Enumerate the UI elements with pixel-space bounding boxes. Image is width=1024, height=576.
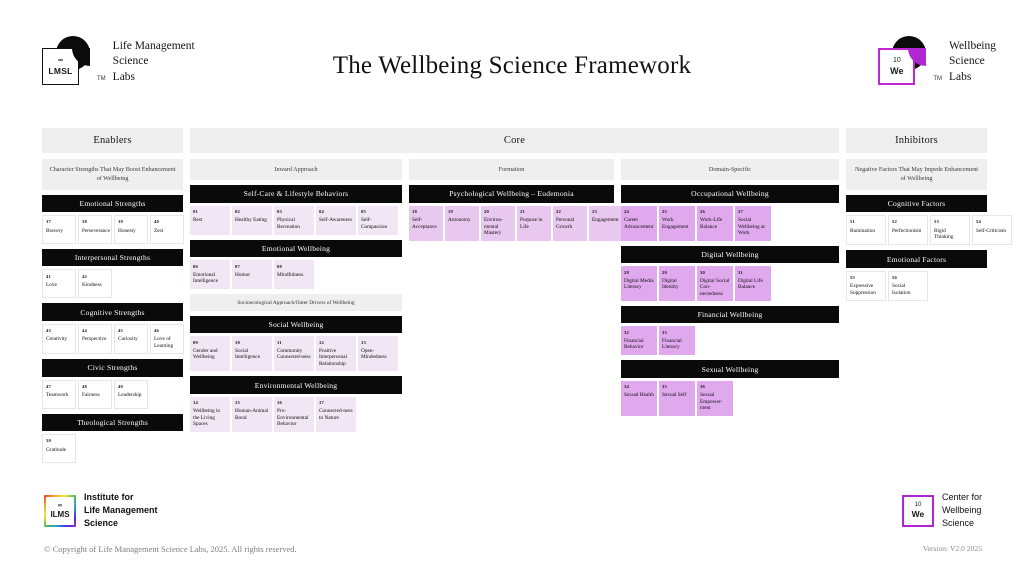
framework-cell[interactable]: 34Sexual Health: [621, 381, 657, 416]
framework-cell[interactable]: 45Curiosity: [114, 324, 148, 355]
cell-number: 47: [46, 384, 72, 390]
framework-cell[interactable]: 31Digital Life Balance: [735, 266, 771, 301]
cell-label: Social Wellbeing at Work: [738, 217, 768, 236]
framework-cell[interactable]: 53Rigid Thinking: [930, 215, 970, 246]
section-bar: Cognitive Strengths: [42, 303, 183, 320]
cell-label: Connected-ness to Nature: [319, 408, 353, 421]
cell-number: 36: [700, 384, 730, 390]
cell-number: 49: [118, 384, 144, 390]
column-enablers: Enablers Character Strengths That May Bo…: [42, 128, 183, 463]
cell-number: 13: [361, 340, 395, 346]
cws-number: 10: [915, 502, 922, 508]
cell-number: 35: [662, 384, 692, 390]
we-number: 10: [893, 57, 901, 64]
cws-line-3: Science: [942, 517, 982, 530]
cell-label: Positive Interpersonal Relationship: [319, 348, 353, 367]
framework-cell[interactable]: 26Work-Life Balance: [697, 206, 733, 241]
cell-number: 25: [662, 209, 692, 215]
framework-cell[interactable]: 21Purpose in Life: [517, 206, 551, 241]
cell-number: 41: [46, 274, 72, 280]
framework-cell[interactable]: 37Bravery: [42, 215, 76, 244]
cell-label: Purpose in Life: [520, 217, 548, 230]
framework-cell[interactable]: 25Work Engagement: [659, 206, 695, 241]
version-text: Version: V2.0 2025: [923, 544, 982, 553]
section-cells: 24Career Advancement25Work Engagement26W…: [621, 206, 839, 241]
section-cells: 18Self-Acceptance19Autonomy20Environ-men…: [409, 206, 614, 241]
framework-cell[interactable]: 44Perspective: [78, 324, 112, 355]
framework-cell[interactable]: 19Autonomy: [445, 206, 479, 241]
cell-label: Love of Learning: [154, 336, 180, 349]
formation-sections: Psychological Wellbeing – Eudemonia18Sel…: [409, 185, 614, 240]
framework-cell[interactable]: 39Honesty: [114, 215, 148, 244]
framework-cell[interactable]: 07Humor: [232, 260, 272, 289]
framework-cell[interactable]: 35Sexual Self: [659, 381, 695, 416]
cell-label: Love: [46, 282, 72, 288]
cell-number: 26: [700, 209, 730, 215]
wsl-line-2: Science: [949, 54, 996, 69]
framework-cell[interactable]: 20Environ-mental Mastery: [481, 206, 515, 241]
framework-cell[interactable]: 17Connected-ness to Nature: [316, 397, 356, 432]
framework-cell[interactable]: 33Financial Literacy: [659, 326, 695, 355]
cell-label: Autonomy: [448, 217, 476, 223]
cell-label: Zest: [154, 228, 180, 234]
cws-line-1: Center for: [942, 491, 982, 504]
framework-cell[interactable]: 10Social Intelligence: [232, 336, 272, 371]
framework-cell[interactable]: 03Physical Recreation: [274, 206, 314, 235]
cell-number: 10: [235, 340, 269, 346]
cell-number: 16: [277, 400, 311, 406]
ilms-line-1: Institute for: [84, 491, 158, 504]
framework-cell[interactable]: 42Kindness: [78, 269, 112, 298]
section-bar: Emotional Strengths: [42, 195, 183, 212]
framework-cell[interactable]: 40Zest: [150, 215, 184, 244]
cell-label: Sexual Self: [662, 392, 692, 398]
section-cells: 55Expressive Suppression56Social Isolati…: [846, 271, 987, 302]
section-bar: Financial Wellbeing: [621, 306, 839, 323]
cell-label: Sexual Empower-ment: [700, 392, 730, 411]
cell-number: 56: [892, 275, 924, 281]
cell-label: Teamwork: [46, 392, 72, 398]
cell-label: Curiosity: [118, 336, 144, 342]
framework-cell[interactable]: 56Social Isolation: [888, 271, 928, 302]
cell-number: 55: [850, 275, 882, 281]
cell-number: 22: [556, 209, 584, 215]
cell-label: Financial Behavior: [624, 338, 654, 351]
framework-cell[interactable]: 24Career Advancement: [621, 206, 657, 241]
ilms-line-2: Life Management: [84, 504, 158, 517]
framework-cell[interactable]: 43Creativity: [42, 324, 76, 355]
infinity-glyph: ∞: [58, 503, 62, 509]
cell-number: 37: [46, 219, 72, 225]
cell-number: 40: [154, 219, 180, 225]
cell-number: 01: [193, 209, 227, 215]
inhibitors-sections: Cognitive Factors51Rumination52Perfectio…: [846, 195, 987, 302]
section-bar: Interpersonal Strengths: [42, 249, 183, 266]
cws-badge-icon: 10 We: [902, 495, 934, 527]
cell-label: Work Engagement: [662, 217, 692, 230]
section-bar: Self-Care & Lifestyle Behaviors: [190, 185, 402, 202]
cws-line-2: Wellbeing: [942, 504, 982, 517]
cell-number: 45: [118, 328, 144, 334]
cws-logo-text: Center for Wellbeing Science: [942, 491, 982, 530]
ilms-badge-icon: ∞ ILMS: [44, 495, 76, 527]
cell-number: 34: [624, 384, 654, 390]
section-cells: 37Bravery38Perseverance39Honesty40Zest: [42, 215, 183, 244]
inhibitors-subtitle: Negative Factors That May Impede Enhance…: [846, 159, 987, 190]
cell-label: Social Isolation: [892, 283, 924, 296]
cell-label: Self-Criticism: [976, 228, 1008, 234]
cell-number: 27: [738, 209, 768, 215]
framework-cell[interactable]: 51Rumination: [846, 215, 886, 246]
cell-label: Engagement: [592, 217, 620, 223]
cws-abbr: We: [912, 509, 925, 519]
cell-label: Kindness: [82, 282, 108, 288]
subcolumn-formation: Formation Psychological Wellbeing – Eude…: [409, 159, 614, 241]
framework-cell[interactable]: 18Self-Acceptance: [409, 206, 443, 241]
section-bar: Psychological Wellbeing – Eudemonia: [409, 185, 614, 202]
cell-label: Perseverance: [82, 228, 108, 234]
cell-number: 31: [738, 270, 768, 276]
formation-heading: Formation: [409, 159, 614, 180]
core-heading: Core: [190, 128, 839, 153]
section-bar: Emotional Factors: [846, 250, 987, 267]
section-cells: 14Wellbeing in the Living Spaces15Human-…: [190, 397, 402, 432]
domain-sections: Occupational Wellbeing24Career Advanceme…: [621, 185, 839, 415]
cell-number: 44: [82, 328, 108, 334]
ilms-logo-text: Institute for Life Management Science: [84, 491, 158, 530]
framework-cell[interactable]: 27Social Wellbeing at Work: [735, 206, 771, 241]
page-title: The Wellbeing Science Framework: [0, 52, 1024, 80]
enablers-heading: Enablers: [42, 128, 183, 153]
section-cells: 09Gender and Wellbeing10Social Intellige…: [190, 336, 402, 371]
framework-cell[interactable]: 02Healthy Eating: [232, 206, 272, 235]
cws-logo: 10 We Center for Wellbeing Science: [902, 491, 982, 530]
framework-cell[interactable]: 38Perseverance: [78, 215, 112, 244]
cell-number: 52: [892, 219, 924, 225]
section-cells: 32Financial Behavior33Financial Literacy: [621, 326, 839, 355]
cell-number: 33: [662, 330, 692, 336]
column-inhibitors: Inhibitors Negative Factors That May Imp…: [846, 128, 987, 301]
cell-label: Honesty: [118, 228, 144, 234]
framework-cell[interactable]: 14Wellbeing in the Living Spaces: [190, 397, 230, 432]
cell-number: 17: [319, 400, 353, 406]
cell-number: 53: [934, 219, 966, 225]
framework-cell[interactable]: 12Positive Interpersonal Relationship: [316, 336, 356, 371]
section-cells: 41Love42Kindness: [42, 269, 183, 298]
cell-label: Work-Life Balance: [700, 217, 730, 230]
ilms-logo: ∞ ILMS Institute for Life Management Sci…: [44, 491, 158, 530]
domain-heading: Domain-Specific: [621, 159, 839, 180]
section-bar: Sexual Wellbeing: [621, 360, 839, 377]
we-abbr: We: [890, 66, 903, 76]
cell-number: 03: [277, 209, 311, 215]
framework-cell[interactable]: 46Love of Learning: [150, 324, 184, 355]
section-bar: Social Wellbeing: [190, 316, 402, 333]
section-bar: Digital Wellbeing: [621, 246, 839, 263]
cell-label: Career Advancement: [624, 217, 654, 230]
ilms-abbr: ILMS: [50, 510, 69, 519]
wsl-logo-text: Wellbeing Science Labs: [949, 39, 996, 85]
cell-number: 02: [235, 209, 269, 215]
ilms-badge-inner: ∞ ILMS: [46, 497, 74, 525]
framework-cell[interactable]: 09Gender and Wellbeing: [190, 336, 230, 371]
cell-label: Open-Mindedness: [361, 348, 395, 361]
cell-label: Rumination: [850, 228, 882, 234]
enablers-subtitle: Character Strengths That May Boost Enhan…: [42, 159, 183, 190]
framework-cell[interactable]: 49Leadership: [114, 380, 148, 409]
section-cells: 34Sexual Health35Sexual Self36Sexual Emp…: [621, 381, 839, 416]
cell-number: 23: [592, 209, 620, 215]
cell-number: 07: [235, 264, 269, 270]
cell-label: Digital Identity: [662, 278, 692, 291]
cell-label: Emotional Intelligence: [193, 272, 227, 285]
cell-number: 14: [193, 400, 227, 406]
wsl-line-1: Wellbeing: [949, 39, 996, 54]
framework-cell[interactable]: 08Mindfulness: [274, 260, 314, 289]
cell-number: 20: [484, 209, 512, 215]
framework-cell[interactable]: 16Pro-Environmental Behavior: [274, 397, 314, 432]
framework-poster: ∞ LMSL TM Life Management Science Labs T…: [0, 0, 1024, 576]
inward-heading: Inward Approach: [190, 159, 402, 180]
cell-label: Creativity: [46, 336, 72, 342]
cell-number: 32: [624, 330, 654, 336]
cell-label: Sexual Health: [624, 392, 654, 398]
framework-cell[interactable]: 01Rest: [190, 206, 230, 235]
inward-sections-bottom: Social Wellbeing09Gender and Wellbeing10…: [190, 316, 402, 432]
trademark-mark: TM: [933, 76, 942, 82]
cell-label: Mindfulness: [277, 272, 311, 278]
cell-label: Fairness: [82, 392, 108, 398]
framework-cell[interactable]: 28Digital Media Literacy: [621, 266, 657, 301]
framework-cell[interactable]: 36Sexual Empower-ment: [697, 381, 733, 416]
cell-label: Personal Growth: [556, 217, 584, 230]
cell-number: 05: [361, 209, 395, 215]
cell-label: Pro-Environmental Behavior: [277, 408, 311, 427]
section-cells: 06Emotional Intelligence07Humor08Mindful…: [190, 260, 402, 289]
framework-cell[interactable]: 13Open-Mindedness: [358, 336, 398, 371]
wsl-logo: 10 We TM Wellbeing Science Labs: [878, 38, 996, 86]
cell-label: Human-Animal Bond: [235, 408, 269, 421]
cell-number: 24: [624, 209, 654, 215]
framework-cell[interactable]: 04Self-Awareness: [316, 206, 356, 235]
cell-number: 29: [662, 270, 692, 276]
section-cells: 50Gratitude: [42, 434, 183, 463]
cell-label: Financial Literacy: [662, 338, 692, 351]
cell-label: Humor: [235, 272, 269, 278]
cell-label: Digital Social Con-nectedness: [700, 278, 730, 297]
framework-cell[interactable]: 47Teamwork: [42, 380, 76, 409]
section-cells: 47Teamwork48Fairness49Leadership: [42, 380, 183, 409]
framework-cell[interactable]: 30Digital Social Con-nectedness: [697, 266, 733, 301]
framework-cell[interactable]: 22Personal Growth: [553, 206, 587, 241]
framework-diagram: Enablers Character Strengths That May Bo…: [42, 128, 982, 468]
cell-number: 51: [850, 219, 882, 225]
section-bar: Cognitive Factors: [846, 195, 987, 212]
subcolumn-domain-specific: Domain-Specific Occupational Wellbeing24…: [621, 159, 839, 416]
framework-cell[interactable]: 06Emotional Intelligence: [190, 260, 230, 289]
section-cells: 28Digital Media Literacy29Digital Identi…: [621, 266, 839, 301]
cell-number: 54: [976, 219, 1008, 225]
cell-label: Wellbeing in the Living Spaces: [193, 408, 227, 427]
socioecological-note: Socioecological Approach/Outer Drivers o…: [190, 294, 402, 311]
framework-cell[interactable]: 32Financial Behavior: [621, 326, 657, 355]
section-bar: Occupational Wellbeing: [621, 185, 839, 202]
core-subcolumns: Inward Approach Self-Care & Lifestyle Be…: [190, 159, 839, 432]
cell-number: 08: [277, 264, 311, 270]
section-bar: Environmental Wellbeing: [190, 376, 402, 393]
subcolumn-inward-approach: Inward Approach Self-Care & Lifestyle Be…: [190, 159, 402, 432]
copyright-text: © Copyright of Life Management Science L…: [44, 544, 297, 554]
framework-cell[interactable]: 05Self-Compassion: [358, 206, 398, 235]
framework-cell[interactable]: 52Perfectionism: [888, 215, 928, 246]
framework-cell[interactable]: 23Engagement: [589, 206, 623, 241]
ilms-line-3: Science: [84, 517, 158, 530]
cell-label: Perspective: [82, 336, 108, 342]
cell-number: 19: [448, 209, 476, 215]
cell-number: 18: [412, 209, 440, 215]
wsl-logo-mark: 10 We: [878, 38, 926, 86]
cell-label: Self-Compassion: [361, 217, 395, 230]
cell-label: Social Intelligence: [235, 348, 269, 361]
cell-number: 46: [154, 328, 180, 334]
cell-label: Perfectionism: [892, 228, 924, 234]
framework-cell[interactable]: 50Gratitude: [42, 434, 76, 463]
cell-label: Bravery: [46, 228, 72, 234]
framework-cell[interactable]: 48Fairness: [78, 380, 112, 409]
cell-label: Rigid Thinking: [934, 228, 966, 241]
enablers-sections: Emotional Strengths37Bravery38Perseveran…: [42, 195, 183, 463]
section-bar: Theological Strengths: [42, 414, 183, 431]
cell-number: 15: [235, 400, 269, 406]
cell-label: Digital Life Balance: [738, 278, 768, 291]
cell-number: 11: [277, 340, 311, 346]
cell-number: 39: [118, 219, 144, 225]
cell-label: Healthy Eating: [235, 217, 269, 223]
cell-label: Gratitude: [46, 447, 72, 453]
section-bar: Civic Strengths: [42, 359, 183, 376]
cell-label: Community Connected-ness: [277, 348, 311, 361]
cell-number: 04: [319, 209, 353, 215]
framework-cell[interactable]: 29Digital Identity: [659, 266, 695, 301]
cell-number: 06: [193, 264, 227, 270]
cell-label: Expressive Suppression: [850, 283, 882, 296]
cell-label: Physical Recreation: [277, 217, 311, 230]
cell-label: Self-Acceptance: [412, 217, 440, 230]
cell-label: Digital Media Literacy: [624, 278, 654, 291]
cell-number: 43: [46, 328, 72, 334]
cell-number: 38: [82, 219, 108, 225]
cell-number: 12: [319, 340, 353, 346]
cell-number: 42: [82, 274, 108, 280]
section-cells: 01Rest02Healthy Eating03Physical Recreat…: [190, 206, 402, 235]
section-cells: 43Creativity44Perspective45Curiosity46Lo…: [42, 324, 183, 355]
cell-label: Environ-mental Mastery: [484, 217, 512, 236]
framework-cell[interactable]: 41Love: [42, 269, 76, 298]
framework-cell[interactable]: 15Human-Animal Bond: [232, 397, 272, 432]
cell-number: 21: [520, 209, 548, 215]
column-core: Core Inward Approach Self-Care & Lifesty…: [190, 128, 839, 432]
section-cells: 51Rumination52Perfectionism53Rigid Think…: [846, 215, 987, 246]
inhibitors-heading: Inhibitors: [846, 128, 987, 153]
framework-cell[interactable]: 11Community Connected-ness: [274, 336, 314, 371]
cell-label: Self-Awareness: [319, 217, 353, 223]
section-bar: Emotional Wellbeing: [190, 240, 402, 257]
framework-cell[interactable]: 55Expressive Suppression: [846, 271, 886, 302]
cell-number: 30: [700, 270, 730, 276]
cell-label: Gender and Wellbeing: [193, 348, 227, 361]
cell-label: Rest: [193, 217, 227, 223]
cell-number: 28: [624, 270, 654, 276]
page-header: ∞ LMSL TM Life Management Science Labs T…: [0, 0, 1024, 118]
wsl-line-3: Labs: [949, 70, 996, 85]
cell-number: 48: [82, 384, 108, 390]
inward-sections-top: Self-Care & Lifestyle Behaviors01Rest02H…: [190, 185, 402, 289]
framework-cell[interactable]: 54Self-Criticism: [972, 215, 1012, 246]
cell-number: 09: [193, 340, 227, 346]
cell-label: Leadership: [118, 392, 144, 398]
cell-number: 50: [46, 438, 72, 444]
